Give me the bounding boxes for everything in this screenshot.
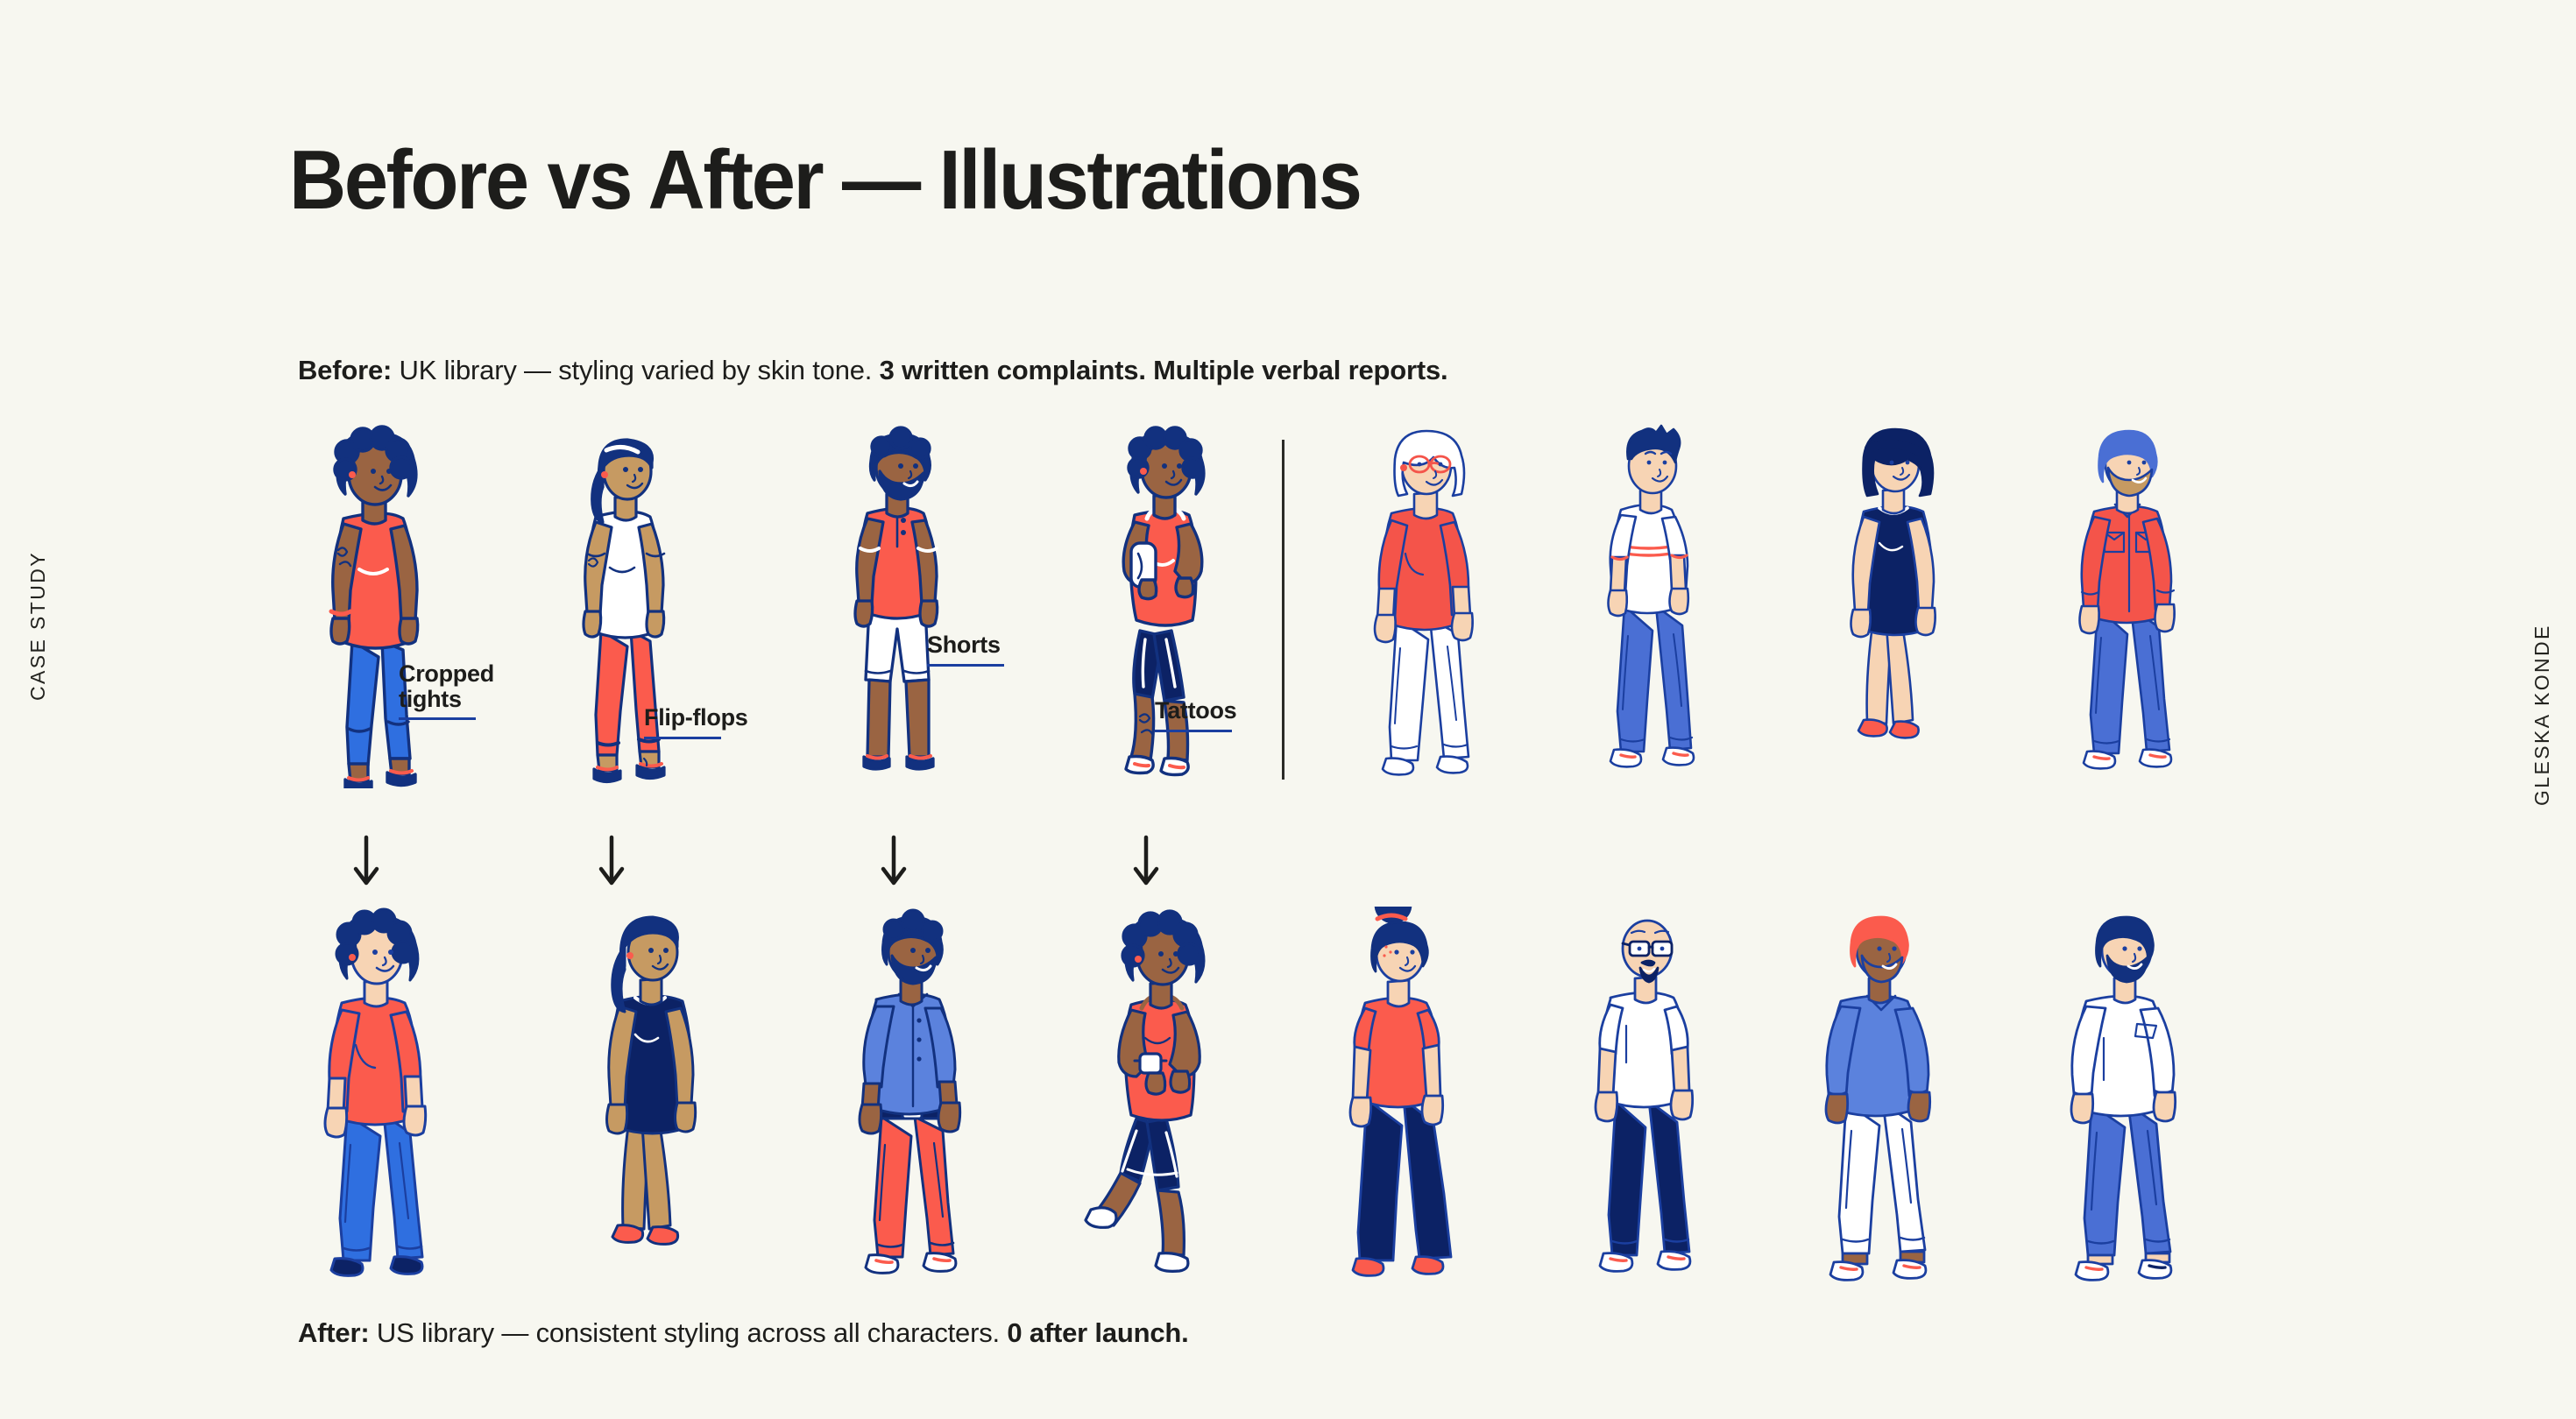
- figure-after-5: [1323, 907, 1481, 1296]
- after-caption-body: US library — consistent styling across a…: [369, 1317, 1007, 1348]
- down-arrow-icon: [1130, 834, 1162, 888]
- after-caption: After: US library — consistent styling a…: [298, 1317, 1189, 1349]
- figure-before-8: [2050, 420, 2212, 788]
- before-caption-emphasis: 3 written complaints. Multiple verbal re…: [880, 355, 1448, 385]
- annotation-cropped-tights: Cropped tights: [399, 661, 494, 720]
- down-arrow-icon: [596, 834, 627, 888]
- annotation-cropped-tights-line2: tights: [399, 687, 494, 712]
- after-caption-emphasis: 0 after launch.: [1007, 1317, 1188, 1348]
- figure-after-4: [1082, 907, 1244, 1296]
- figure-after-7: [1801, 907, 1967, 1296]
- annotation-cropped-tights-line1: Cropped: [399, 661, 494, 687]
- annotation-underline: [927, 664, 1004, 667]
- before-caption: Before: UK library — styling varied by s…: [298, 355, 1447, 386]
- figure-before-1: [298, 420, 464, 788]
- annotation-tattoos: Tattoos: [1155, 698, 1236, 732]
- figure-after-8: [2046, 907, 2212, 1296]
- annotation-shorts: Shorts: [927, 632, 1004, 667]
- figure-before-6: [1577, 420, 1730, 788]
- before-row: [0, 420, 2576, 788]
- down-arrow-icon: [350, 834, 382, 888]
- figure-after-2: [574, 907, 732, 1296]
- after-caption-label: After:: [298, 1317, 369, 1348]
- figure-before-5: [1349, 420, 1516, 788]
- annotation-shorts-line1: Shorts: [927, 632, 1004, 658]
- before-caption-body: UK library — styling varied by skin tone…: [392, 355, 880, 385]
- figure-after-1: [298, 907, 469, 1296]
- before-caption-label: Before:: [298, 355, 392, 385]
- annotation-tattoos-line1: Tattoos: [1155, 698, 1236, 724]
- down-arrow-icon: [878, 834, 909, 888]
- figure-before-7: [1818, 420, 1971, 788]
- annotation-flip-flops: Flip-flops: [644, 705, 747, 739]
- figure-before-3: [824, 420, 986, 788]
- page-title: Before vs After — Illustrations: [289, 138, 1361, 222]
- annotation-underline: [399, 717, 476, 720]
- annotation-flip-flops-line1: Flip-flops: [644, 705, 747, 731]
- figure-after-6: [1568, 907, 1726, 1296]
- slide-canvas: CASE STUDY GLESKA KONDE Before vs After …: [0, 0, 2576, 1419]
- annotation-underline: [1155, 730, 1232, 732]
- figure-before-4: [1091, 420, 1244, 788]
- figure-after-3: [832, 907, 994, 1296]
- after-row: [0, 893, 2576, 1296]
- annotation-underline: [644, 737, 721, 739]
